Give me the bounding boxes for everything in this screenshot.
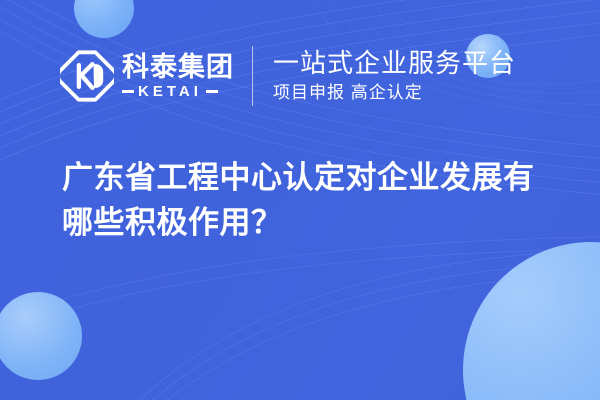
ketai-diamond-kd-logo-icon [60, 49, 114, 103]
tagline-secondary: 项目申报 高企认定 [273, 81, 516, 105]
brand-wordmark: 科泰集团 KETAI [122, 53, 234, 99]
header-divider [252, 46, 253, 106]
brand-name-cn: 科泰集团 [122, 53, 234, 81]
brand-name-en-row: KETAI [122, 84, 234, 99]
banner-headline: 广东省工程中心认定对企业发展有 哪些积极作用？ [62, 155, 556, 245]
wordmark-rule-left [122, 90, 134, 93]
banner-header: 科泰集团 KETAI 一站式企业服务平台 项目申报 高企认定 [0, 36, 600, 116]
headline-line-1: 广东省工程中心认定对企业发展有 [62, 155, 556, 200]
brand-logo[interactable]: 科泰集团 KETAI [60, 49, 234, 103]
wordmark-rule-right [206, 90, 218, 93]
brand-name-en: KETAI [138, 84, 202, 99]
tagline-primary: 一站式企业服务平台 [273, 47, 516, 79]
promo-banner: 科泰集团 KETAI 一站式企业服务平台 项目申报 高企认定 广东省工程中心认定… [0, 0, 600, 400]
brand-tagline: 一站式企业服务平台 项目申报 高企认定 [273, 47, 516, 105]
headline-line-2: 哪些积极作用？ [62, 200, 556, 245]
